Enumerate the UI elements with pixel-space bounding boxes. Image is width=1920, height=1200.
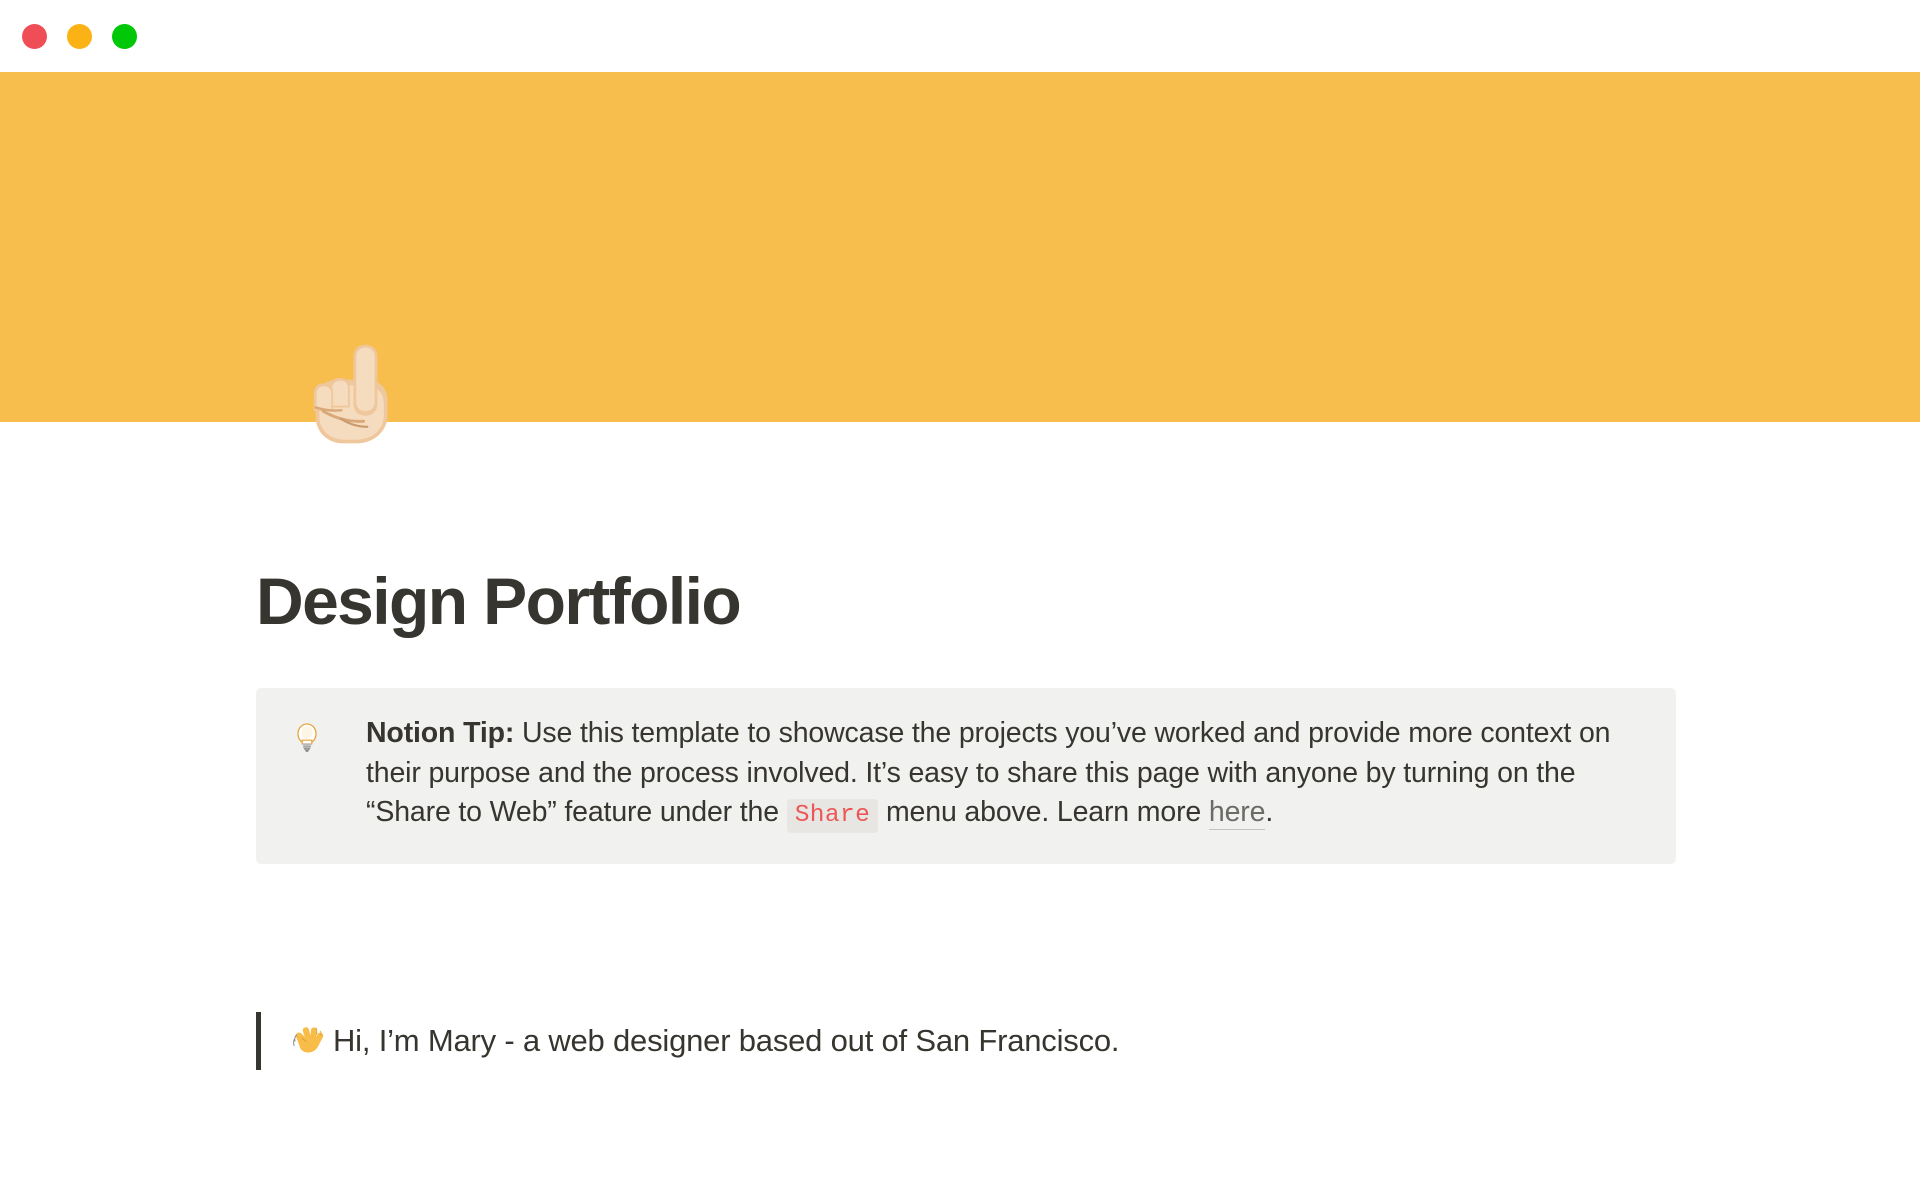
traffic-lights [22, 24, 137, 49]
maximize-window-button[interactable] [112, 24, 137, 49]
notion-tip-body-3: . [1265, 796, 1273, 828]
index-pointing-up-icon[interactable] [288, 330, 406, 448]
learn-more-here-link[interactable]: here [1209, 796, 1265, 830]
share-code-chip[interactable]: Share [787, 799, 879, 833]
notion-tip-callout[interactable]: Notion Tip: Use this template to showcas… [256, 688, 1676, 864]
close-window-button[interactable] [22, 24, 47, 49]
light-bulb-icon [290, 714, 332, 754]
content-column: Design Portfolio Notion Tip: Use this te… [256, 422, 1672, 1070]
notion-tip-body-2: menu above. Learn more [878, 796, 1209, 828]
notion-tip-text: Notion Tip: Use this template to showcas… [332, 714, 1642, 834]
waving-hand-icon [292, 1025, 324, 1057]
quote-content: Hi, I’m Mary - a web designer based out … [261, 1012, 1119, 1070]
page-title[interactable]: Design Portfolio [256, 567, 1672, 636]
minimize-window-button[interactable] [67, 24, 92, 49]
page-body: Design Portfolio Notion Tip: Use this te… [0, 422, 1920, 1200]
intro-quote-block[interactable]: Hi, I’m Mary - a web designer based out … [256, 1012, 1672, 1070]
window-title-bar [0, 0, 1920, 72]
notion-tip-label: Notion Tip: [366, 717, 514, 749]
quote-text: Hi, I’m Mary - a web designer based out … [333, 1020, 1119, 1062]
